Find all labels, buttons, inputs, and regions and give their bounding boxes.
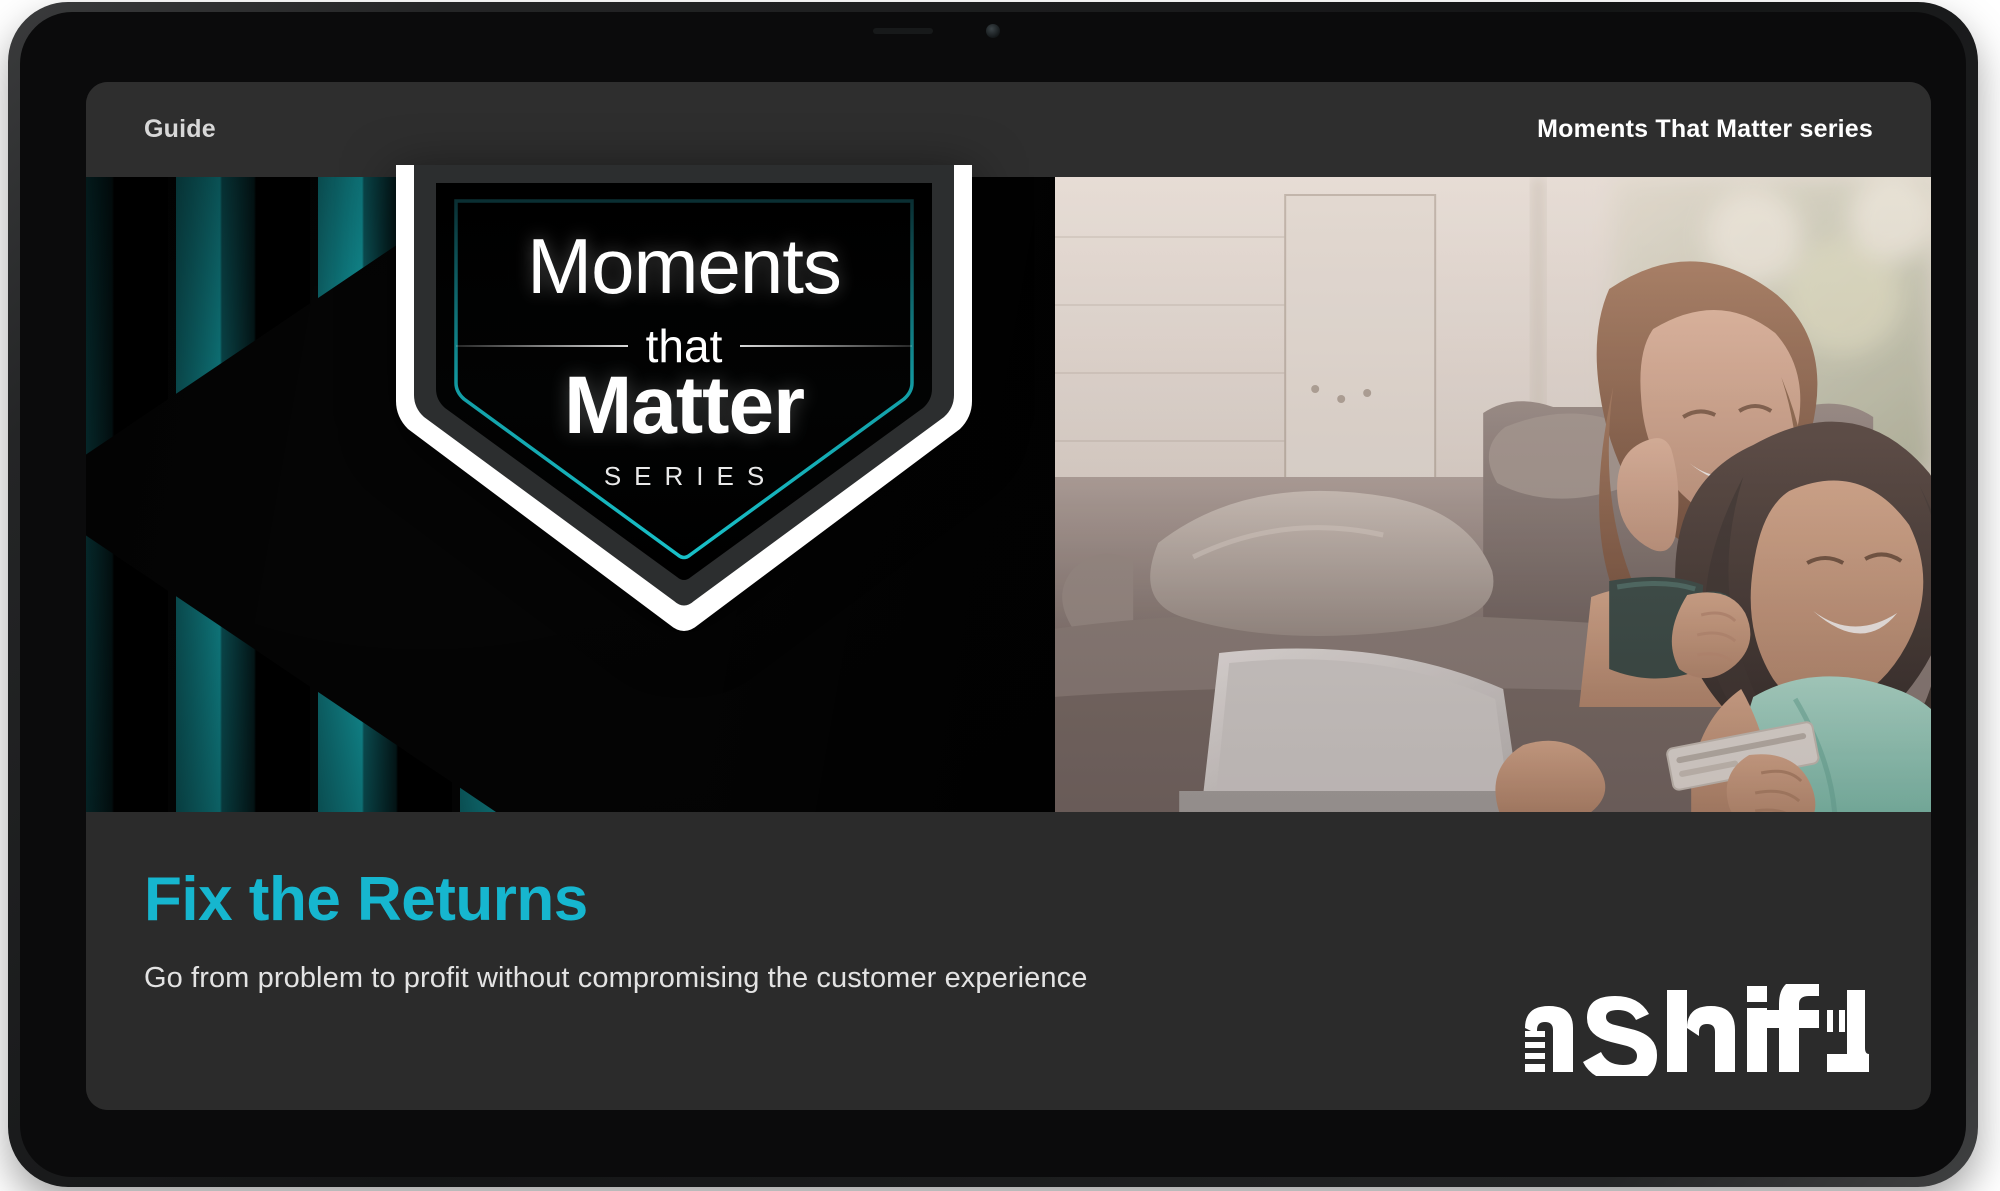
nshift-logo-icon (1521, 984, 1869, 1076)
tablet-device-frame: Guide Moments That Matter series (8, 2, 1978, 1187)
nshift-logo (1521, 984, 1869, 1076)
badge-line-matter: Matter (384, 365, 984, 447)
speaker-grill-icon (873, 28, 933, 34)
cover-content-panel: Fix the Returns Go from problem to profi… (86, 812, 1931, 1110)
hero-photo (1055, 177, 1931, 812)
badge-line-series: SERIES (384, 461, 984, 492)
series-label: Moments That Matter series (1537, 115, 1873, 144)
badge-rule-right (740, 345, 912, 347)
camera-dot-icon (986, 24, 1000, 38)
page-title: Fix the Returns (144, 869, 588, 931)
couch-photo-illustration (1055, 177, 1931, 812)
moments-that-matter-badge: Moments that Matter SERIES (384, 165, 984, 633)
page-subtitle: Go from problem to profit without compro… (144, 964, 1087, 993)
page-header-bar: Guide Moments That Matter series (86, 82, 1931, 177)
document-type-label: Guide (144, 115, 216, 144)
badge-line-moments: Moments (384, 227, 984, 305)
hero-banner: Moments that Matter SERIES (86, 177, 1931, 812)
tablet-screen: Guide Moments That Matter series (86, 82, 1931, 1110)
badge-rule-left (456, 345, 628, 347)
badge-text-block: Moments that Matter SERIES (384, 165, 984, 633)
screenshot-canvas: Guide Moments That Matter series (0, 0, 2000, 1191)
